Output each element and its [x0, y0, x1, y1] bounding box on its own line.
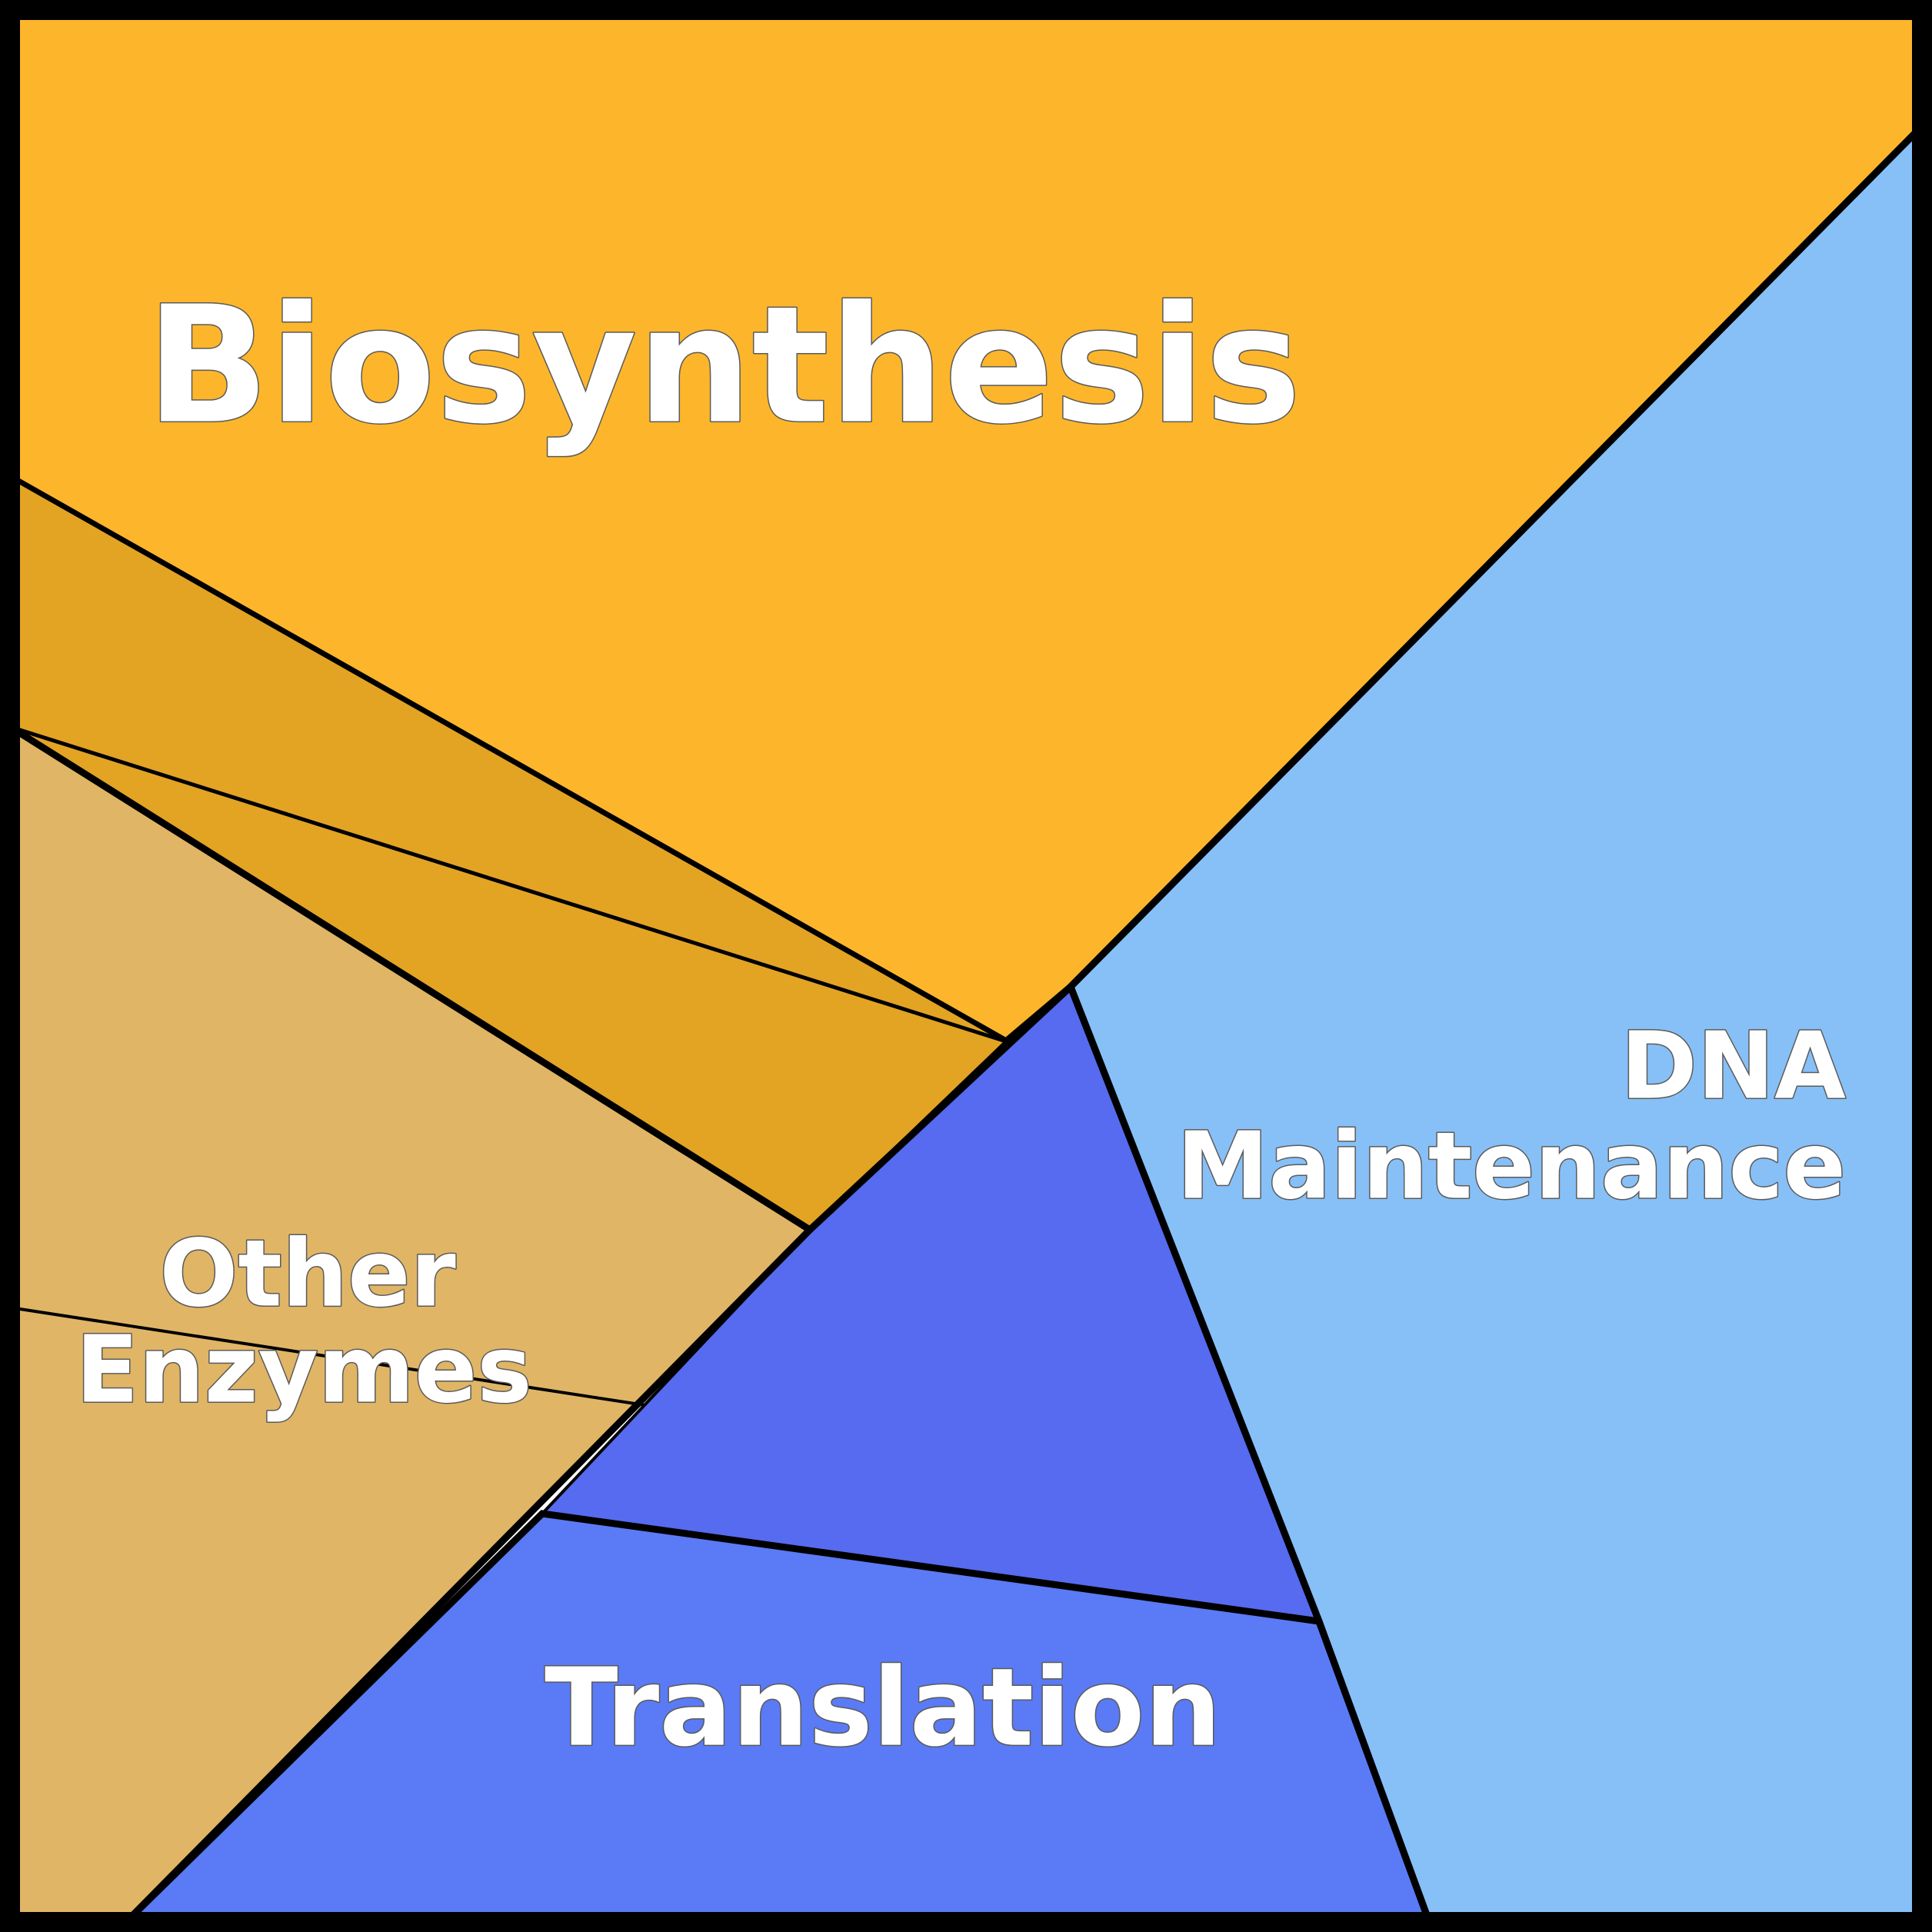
treemap-canvas: Biosynthesis DNA Maintenance Other Enzym…: [0, 0, 1932, 1932]
treemap-figure: Biosynthesis DNA Maintenance Other Enzym…: [0, 0, 1932, 1932]
label-dna-maintenance-line2: Maintenance: [1177, 1114, 1846, 1221]
label-other-enzymes-line2: Enzymes: [75, 1317, 531, 1424]
label-biosynthesis: Biosynthesis: [146, 271, 1301, 460]
label-other-enzymes-line1: Other: [159, 1221, 455, 1328]
label-translation: Translation: [545, 1646, 1221, 1771]
label-dna-maintenance-line1: DNA: [1621, 1014, 1846, 1121]
